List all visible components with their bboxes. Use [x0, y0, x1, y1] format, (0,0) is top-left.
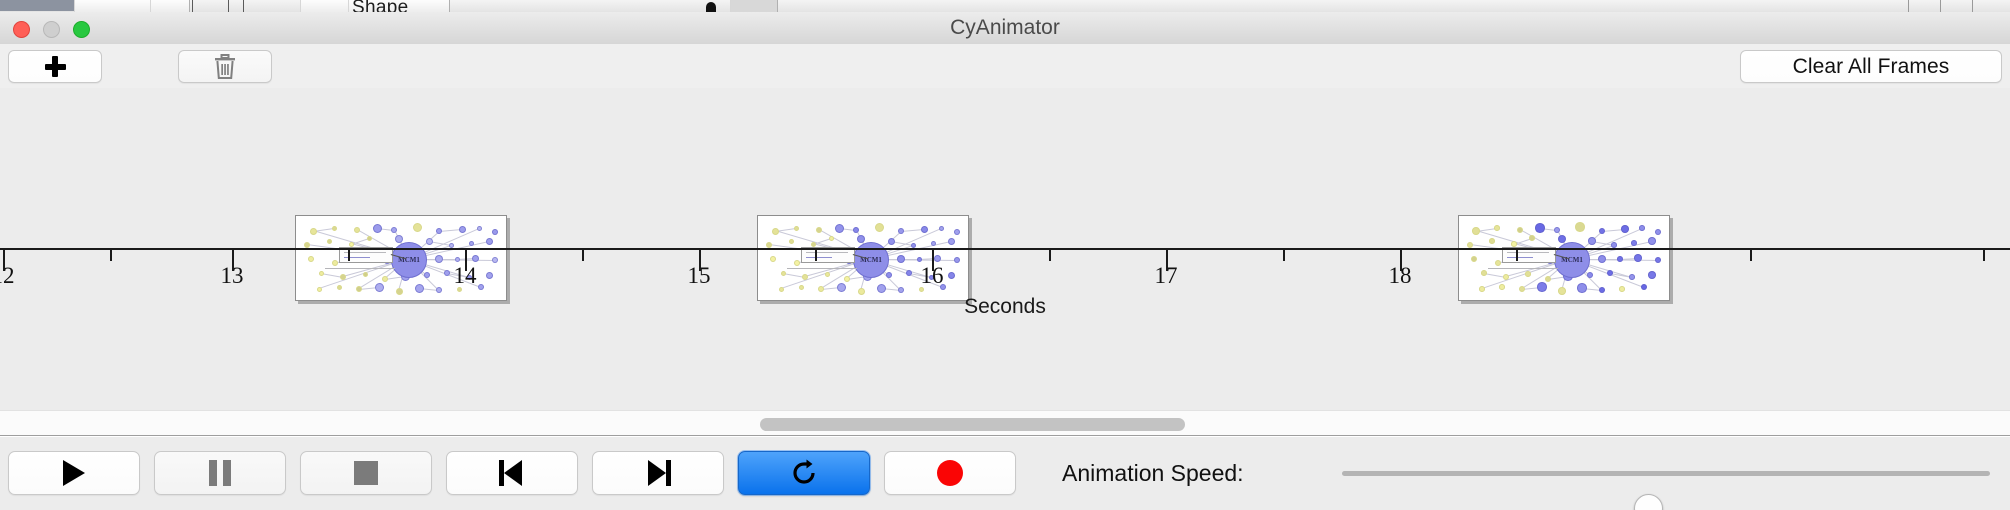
network-node — [486, 238, 493, 245]
network-caption — [325, 268, 395, 269]
timeline-frame[interactable]: MCM1 — [1458, 215, 1670, 301]
play-button[interactable] — [8, 451, 140, 495]
record-button[interactable] — [884, 451, 1016, 495]
network-node — [349, 242, 354, 247]
network-node — [770, 256, 776, 262]
axis-tick-minor — [582, 250, 584, 261]
skip-back-icon — [499, 460, 525, 486]
network-node — [1495, 260, 1502, 267]
background-divider — [1972, 0, 1973, 12]
annotation-text-line — [806, 252, 848, 253]
axis-tick-minor — [1983, 250, 1985, 261]
pause-button[interactable] — [154, 451, 286, 495]
network-node — [888, 238, 895, 245]
window-title: CyAnimator — [0, 12, 2010, 44]
network-node — [1545, 276, 1552, 283]
network-node — [1598, 255, 1607, 264]
network-node — [444, 270, 450, 276]
network-node — [1499, 284, 1505, 290]
network-node — [1494, 225, 1500, 231]
playback-controls: Animation Speed: — [0, 437, 2010, 510]
network-node — [1479, 286, 1485, 292]
axis-tick-minor — [348, 250, 350, 261]
stop-icon — [354, 461, 378, 485]
axis-tick-label: 16 — [921, 263, 944, 289]
loop-icon — [789, 458, 819, 488]
network-node — [781, 271, 786, 276]
network-node — [857, 235, 865, 243]
network-node — [382, 276, 388, 282]
network-node — [1535, 223, 1545, 233]
plus-icon — [45, 56, 66, 77]
network-node — [1621, 225, 1629, 233]
network-node — [844, 276, 850, 282]
network-node — [1648, 271, 1656, 279]
axis-tick-label: 14 — [454, 263, 477, 289]
network-node — [1639, 225, 1645, 231]
network-node — [1599, 228, 1606, 235]
network-node — [455, 257, 460, 262]
axis-tick-minor — [815, 250, 817, 261]
network-node — [917, 257, 922, 262]
skip-forward-icon — [645, 460, 671, 486]
network-node — [1617, 256, 1623, 262]
network-node — [818, 286, 824, 292]
network-node — [436, 228, 442, 234]
network-node — [948, 238, 955, 245]
network-node — [1655, 229, 1662, 236]
network-node — [1537, 282, 1547, 292]
network-node — [816, 227, 822, 233]
network-node — [459, 226, 466, 233]
network-node — [310, 228, 317, 235]
play-icon — [63, 460, 85, 486]
timeline-scrollbar[interactable] — [0, 410, 2010, 436]
network-node — [1489, 238, 1495, 244]
network-node — [898, 287, 904, 293]
network-node — [486, 272, 493, 279]
skip-to-start-button[interactable] — [446, 451, 578, 495]
network-node — [1631, 240, 1637, 246]
network-node — [426, 238, 433, 245]
network-node — [308, 256, 314, 262]
network-node — [340, 274, 346, 280]
network-node — [395, 235, 403, 243]
scrollbar-thumb[interactable] — [760, 418, 1185, 431]
axis-tick-minor — [1049, 250, 1051, 261]
network-node — [875, 223, 884, 232]
animation-speed-slider[interactable] — [1342, 471, 1990, 476]
network-node — [1648, 237, 1656, 245]
network-node — [794, 260, 800, 266]
animation-speed-label: Animation Speed: — [1062, 451, 1244, 495]
add-frame-button[interactable] — [8, 50, 102, 83]
title-bar: CyAnimator — [0, 12, 2010, 45]
background-tab — [730, 0, 778, 12]
network-node — [1575, 222, 1585, 232]
network-node — [477, 226, 482, 231]
background-divider — [228, 0, 229, 12]
network-node — [375, 283, 384, 292]
network-node — [1558, 235, 1567, 244]
background-divider — [192, 0, 193, 12]
annotation-text-line — [806, 257, 832, 258]
network-node — [921, 226, 928, 233]
network-node — [415, 284, 424, 293]
network-node — [472, 255, 479, 262]
network-node — [327, 239, 332, 244]
toolbar: Clear All Frames — [0, 44, 2010, 89]
network-node — [319, 271, 324, 276]
pause-icon — [209, 460, 231, 486]
axis-tick-label: 13 — [221, 263, 244, 289]
timeline-axis — [0, 248, 2010, 250]
cyanimator-window: Shape CyAnimator Clear All Frames — [0, 0, 2010, 510]
background-sidebar — [0, 0, 74, 11]
network-node — [363, 272, 368, 277]
network-node — [1629, 274, 1635, 280]
network-node — [436, 287, 442, 293]
slider-thumb[interactable] — [1634, 494, 1663, 510]
network-node — [492, 257, 498, 263]
network-caption — [787, 268, 857, 269]
network-node — [332, 260, 338, 266]
network-node — [906, 270, 912, 276]
network-node — [825, 272, 830, 277]
network-node — [332, 226, 337, 231]
axis-tick-minor — [1516, 250, 1518, 261]
axis-tick-label: 17 — [1155, 263, 1178, 289]
network-node — [1481, 270, 1487, 276]
axis-tick-label: 12 — [0, 263, 15, 289]
network-node — [877, 284, 886, 293]
network-node — [1529, 235, 1535, 241]
network-node — [391, 227, 397, 233]
record-icon — [937, 460, 963, 486]
network-node — [1634, 254, 1642, 262]
network-node — [1611, 242, 1617, 248]
network-node — [802, 274, 808, 280]
background-tab — [300, 0, 350, 12]
axis-tick-minor — [110, 250, 112, 261]
network-node — [772, 228, 779, 235]
annotation-text-line — [1507, 257, 1533, 258]
network-node — [1517, 227, 1524, 234]
network-node — [435, 255, 443, 263]
network-node — [413, 223, 422, 232]
network-node — [1619, 286, 1625, 292]
network-node — [911, 243, 916, 248]
skip-to-end-button[interactable] — [592, 451, 724, 495]
network-node — [1558, 287, 1566, 295]
network-node — [354, 227, 360, 233]
network-node — [356, 286, 362, 292]
network-node — [396, 288, 403, 295]
timeline-panel[interactable]: MCM1MCM1MCM1 12131415161718 Seconds — [0, 88, 2010, 410]
background-divider — [243, 0, 244, 12]
network-node — [337, 285, 342, 290]
network-node — [779, 287, 784, 292]
network-node — [858, 288, 865, 295]
network-node — [811, 242, 816, 247]
network-node — [897, 255, 905, 263]
axis-tick-minor — [1750, 250, 1752, 261]
network-node — [1587, 272, 1594, 279]
network-caption — [1488, 268, 1558, 269]
network-node — [317, 287, 322, 292]
clear-all-frames-button[interactable]: Clear All Frames — [1740, 50, 2002, 83]
network-node — [886, 272, 892, 278]
network-node — [794, 226, 799, 231]
axis-tick-label: 18 — [1389, 263, 1412, 289]
network-node — [954, 229, 960, 235]
background-tab — [74, 0, 152, 12]
network-node — [1511, 241, 1517, 247]
axis-tick-label: 15 — [688, 263, 711, 289]
trash-icon — [213, 54, 237, 80]
background-marker — [706, 2, 716, 12]
axis-tick-minor — [1283, 250, 1285, 261]
network-node — [898, 228, 904, 234]
network-node — [853, 227, 859, 233]
network-node — [492, 229, 498, 235]
network-node — [934, 255, 941, 262]
network-node — [1471, 256, 1478, 263]
network-node — [1655, 257, 1662, 264]
network-node — [449, 243, 454, 248]
network-node — [1525, 271, 1531, 277]
background-tab — [150, 0, 190, 12]
frame-thumbnail: MCM1 — [1462, 219, 1666, 297]
network-node — [837, 283, 846, 292]
network-node — [1588, 237, 1596, 245]
axis-title: Seconds — [0, 295, 2010, 319]
network-node — [424, 272, 430, 278]
delete-frame-button[interactable] — [178, 50, 272, 83]
network-node — [799, 285, 804, 290]
background-divider — [1908, 0, 1909, 12]
stop-button[interactable] — [300, 451, 432, 495]
network-node — [1641, 284, 1648, 291]
network-node — [469, 241, 474, 246]
loop-button[interactable] — [738, 451, 870, 495]
network-node — [478, 284, 484, 290]
background-divider — [1940, 0, 1941, 12]
network-node — [829, 236, 834, 241]
network-node — [1577, 283, 1587, 293]
network-node — [954, 257, 960, 263]
network-node — [1519, 286, 1526, 293]
network-node — [789, 239, 794, 244]
annotation-text-line — [1507, 252, 1549, 253]
network-node — [939, 226, 944, 231]
network-node — [367, 236, 372, 241]
network-node — [1599, 287, 1606, 294]
network-node — [931, 241, 936, 246]
network-node — [948, 272, 955, 279]
network-node — [373, 224, 382, 233]
network-node — [835, 224, 844, 233]
annotation-text-line — [344, 252, 386, 253]
network-node — [1472, 227, 1480, 235]
